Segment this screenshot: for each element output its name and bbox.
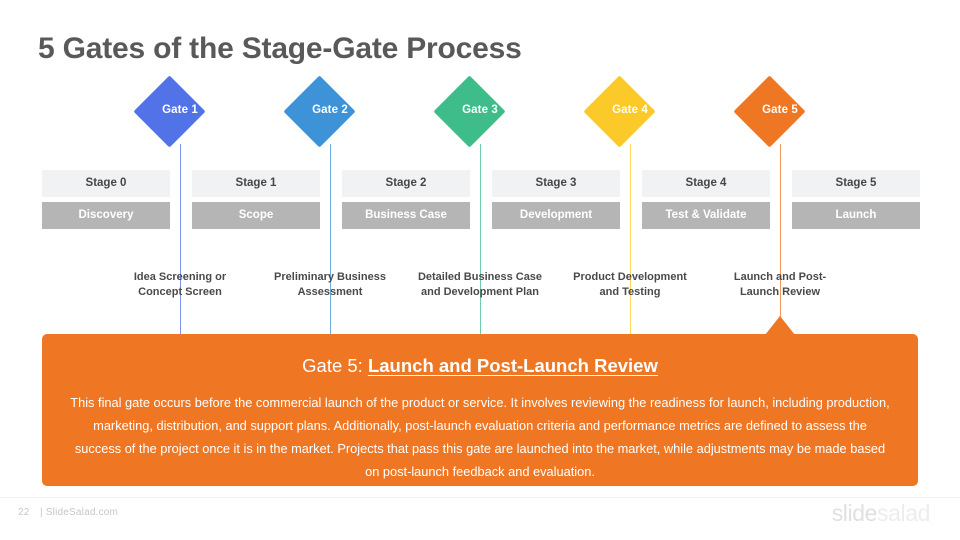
stage-number-label: Stage 1 (192, 170, 320, 197)
stage-number-label: Stage 4 (642, 170, 770, 197)
gate-connector-line (180, 144, 181, 349)
gate-caption-1: Idea Screening orConcept Screen (95, 270, 265, 300)
stage-card-5[interactable]: Stage 5Launch (792, 170, 920, 229)
stage-card-3[interactable]: Stage 3Development (492, 170, 620, 229)
stage-card-4[interactable]: Stage 4Test & Validate (642, 170, 770, 229)
gate-detail-callout: Gate 5: Launch and Post-Launch Review Th… (42, 334, 918, 486)
page-title: 5 Gates of the Stage-Gate Process (38, 32, 522, 66)
logo-part-slide: slide (832, 500, 877, 526)
gate-connector-line (480, 144, 481, 349)
gate-caption-5: Launch and Post-Launch Review (695, 270, 865, 300)
slidesalad-logo: slidesalad (832, 500, 930, 527)
logo-part-salad: salad (877, 500, 930, 526)
gate-diamond-icon (733, 75, 805, 147)
callout-heading: Gate 5: Launch and Post-Launch Review (42, 355, 918, 377)
stage-card-2[interactable]: Stage 2Business Case (342, 170, 470, 229)
gate-connector-line (330, 144, 331, 349)
gate-diamond-icon (133, 75, 205, 147)
gate-caption-3: Detailed Business Caseand Development Pl… (395, 270, 565, 300)
stage-name-label: Launch (792, 202, 920, 229)
callout-pointer-icon (765, 316, 795, 335)
stage-name-label: Development (492, 202, 620, 229)
stage-number-label: Stage 0 (42, 170, 170, 197)
gate-caption-2: Preliminary BusinessAssessment (245, 270, 415, 300)
gate-connector-line (630, 144, 631, 349)
gate-diamond-icon (283, 75, 355, 147)
stage-name-label: Scope (192, 202, 320, 229)
stage-name-label: Test & Validate (642, 202, 770, 229)
footer-page-number: 22 (18, 507, 30, 518)
slide-canvas: 5 Gates of the Stage-Gate Process Gate 1… (0, 0, 960, 540)
callout-body-text: This final gate occurs before the commer… (70, 391, 890, 483)
stage-card-0[interactable]: Stage 0Discovery (42, 170, 170, 229)
stage-name-label: Business Case (342, 202, 470, 229)
footer-divider (0, 497, 960, 498)
stage-number-label: Stage 3 (492, 170, 620, 197)
stage-number-label: Stage 2 (342, 170, 470, 197)
gate-caption-4: Product Developmentand Testing (545, 270, 715, 300)
gate-diamond-icon (433, 75, 505, 147)
callout-heading-highlight: Launch and Post-Launch Review (368, 355, 658, 376)
footer-site-label: | SlideSalad.com (40, 507, 118, 518)
gate-diamond-icon (583, 75, 655, 147)
callout-heading-prefix: Gate 5: (302, 355, 368, 376)
stage-number-label: Stage 5 (792, 170, 920, 197)
stage-card-1[interactable]: Stage 1Scope (192, 170, 320, 229)
stage-name-label: Discovery (42, 202, 170, 229)
